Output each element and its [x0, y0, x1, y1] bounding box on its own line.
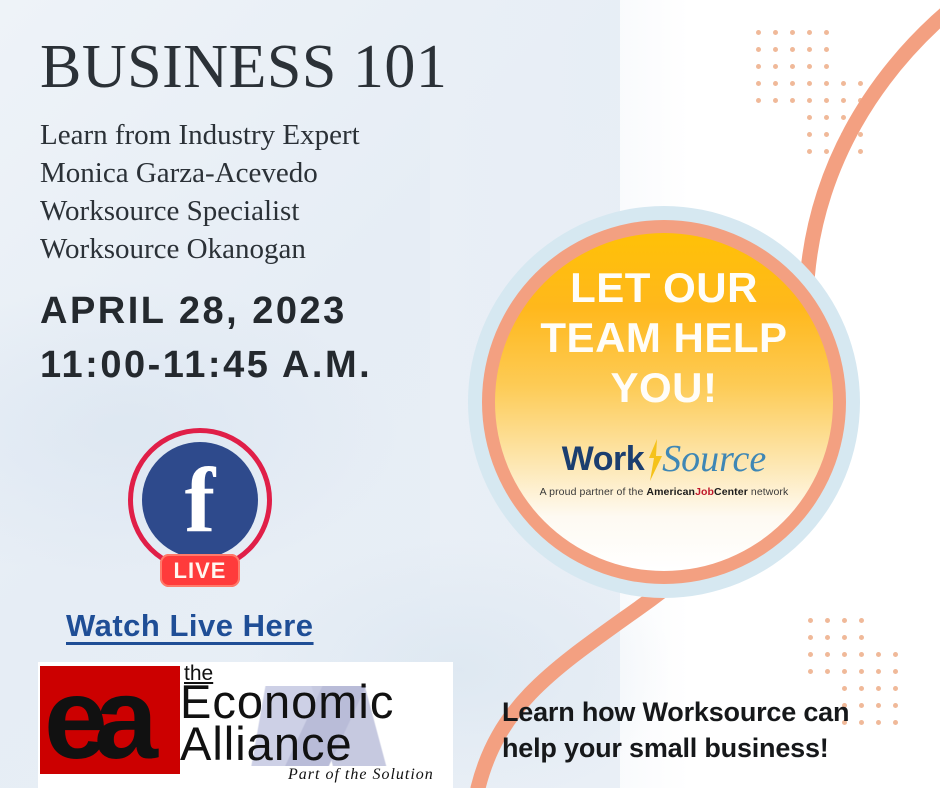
- badge-headline-line: LET OUR: [519, 263, 809, 313]
- page-title: BUSINESS 101: [40, 0, 510, 98]
- worksource-wordmark: Work Source: [562, 439, 767, 479]
- let-our-team-help-you-badge: LET OUR TEAM HELP YOU! Work Source A pro…: [495, 233, 833, 571]
- speaker-line: Worksource Specialist: [40, 192, 510, 230]
- bottom-callout-text: Learn how Worksource can help your small…: [502, 694, 902, 766]
- lightning-bolt-icon: [644, 439, 666, 479]
- badge-headline-line: TEAM HELP: [519, 313, 809, 363]
- tagline-job: Job: [695, 486, 714, 498]
- facebook-f-icon: f: [142, 442, 258, 558]
- ea-tagline: Part of the Solution: [288, 766, 434, 784]
- event-datetime: APRIL 28, 2023 11:00-11:45 A.M.: [40, 284, 510, 392]
- worksource-source-text: Source: [662, 440, 766, 478]
- tagline-suffix: network: [748, 486, 788, 498]
- facebook-live-icon[interactable]: f LIVE: [128, 428, 272, 600]
- watch-live-link[interactable]: Watch Live Here: [66, 608, 314, 644]
- tagline-american: American: [646, 486, 695, 498]
- badge-headline-line: YOU!: [519, 363, 809, 413]
- worksource-work-text: Work: [562, 442, 644, 476]
- speaker-line: Learn from Industry Expert: [40, 116, 510, 154]
- economic-alliance-logo: ea the Economic Alliance Part of the Sol…: [38, 662, 453, 788]
- worksource-tagline: A proud partner of the AmericanJobCenter…: [514, 486, 814, 498]
- tagline-center: Center: [714, 486, 748, 498]
- speaker-line: Worksource Okanogan: [40, 230, 510, 268]
- speaker-block: Learn from Industry Expert Monica Garza-…: [40, 116, 510, 268]
- live-badge: LIVE: [160, 554, 240, 587]
- dot-grid-top-right: [756, 30, 875, 166]
- event-time: 11:00-11:45 A.M.: [40, 338, 510, 392]
- ea-line-alliance: Alliance: [180, 720, 353, 767]
- left-content-column: BUSINESS 101 Learn from Industry Expert …: [40, 0, 510, 392]
- speaker-line: Monica Garza-Acevedo: [40, 154, 510, 192]
- poster-canvas: BUSINESS 101 Learn from Industry Expert …: [0, 0, 940, 788]
- worksource-logo: Work Source A proud partner of the Ameri…: [514, 439, 814, 498]
- tagline-prefix: A proud partner of the: [540, 486, 647, 498]
- badge-headline: LET OUR TEAM HELP YOU!: [519, 263, 809, 413]
- event-date: APRIL 28, 2023: [40, 284, 510, 338]
